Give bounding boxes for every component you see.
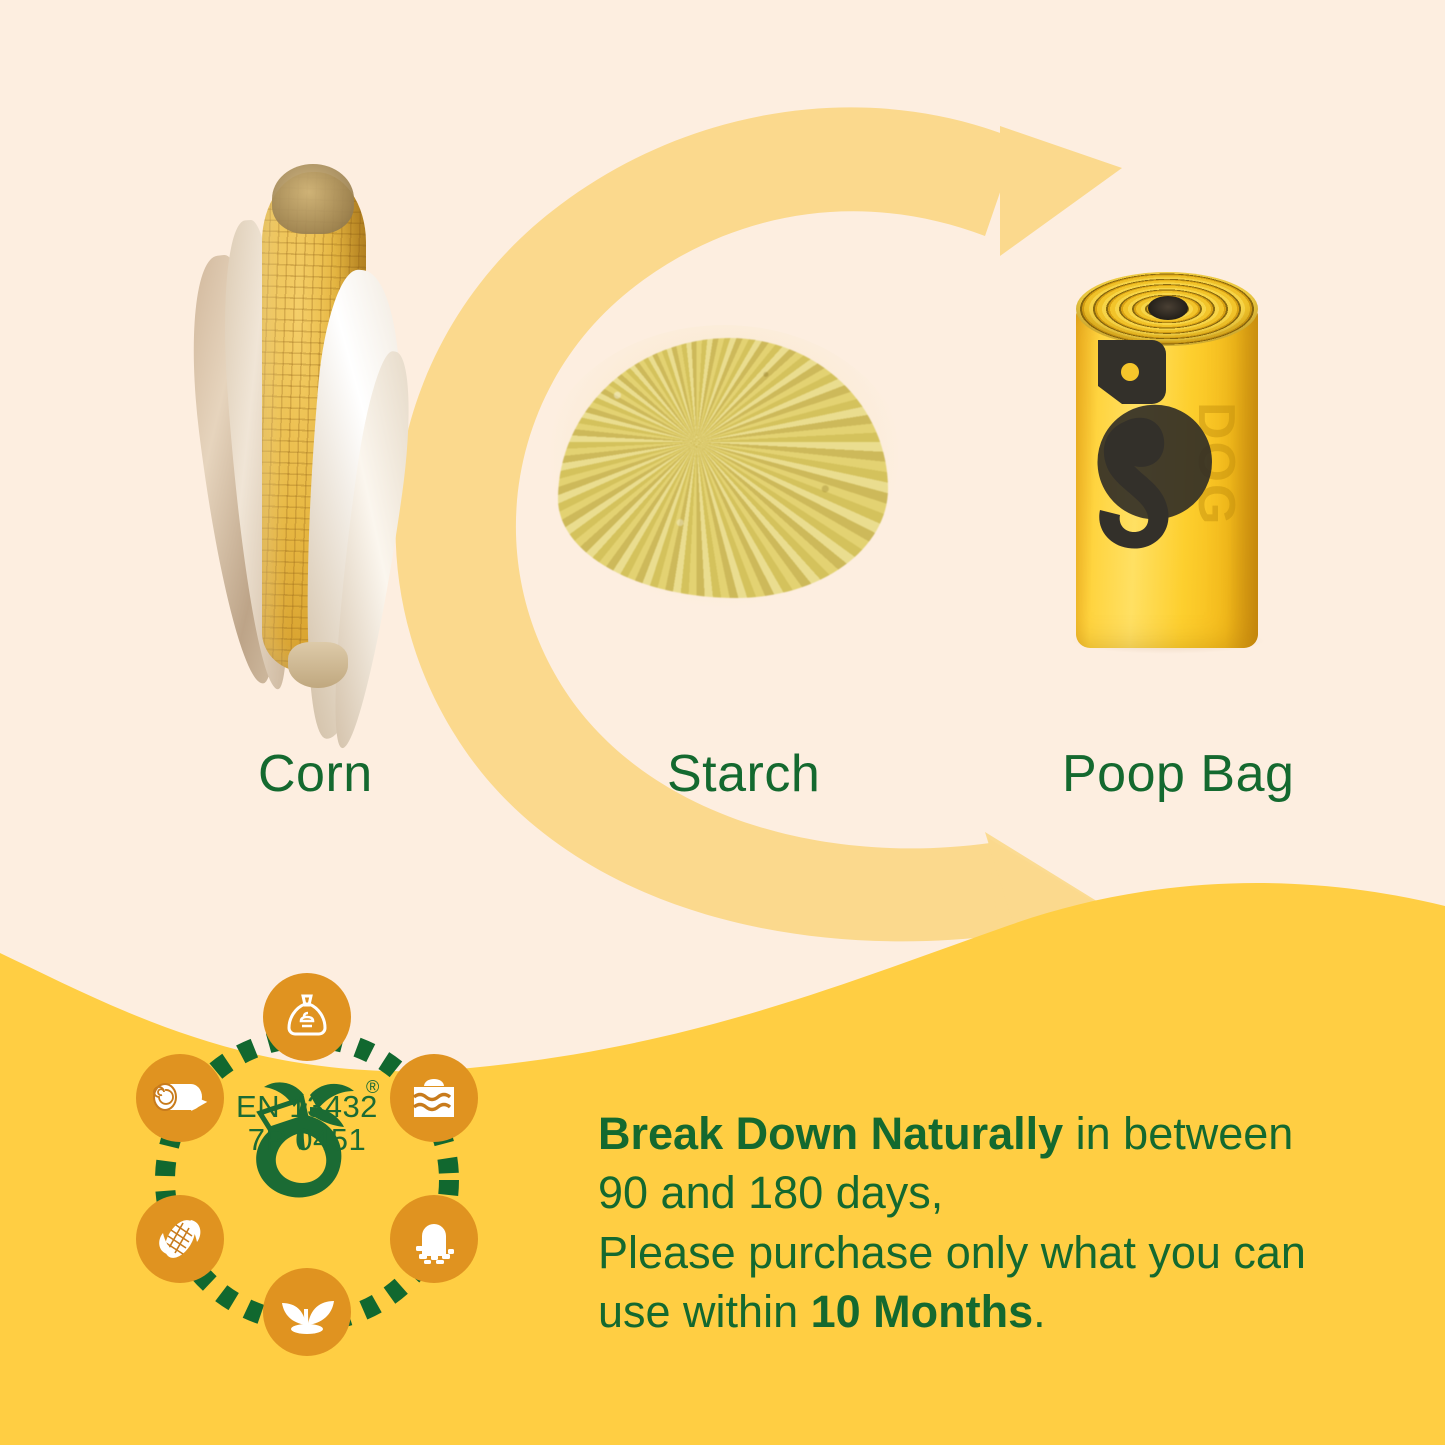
message-line-4-pre: use within: [598, 1286, 811, 1337]
message-line-2: 90 and 180 days,: [598, 1163, 1358, 1222]
poop-bag-icon: [263, 973, 351, 1061]
film-roll-icon: [136, 1054, 224, 1142]
infographic-canvas: DOG ● Corn Starch Poop Bag Break Down Na…: [0, 0, 1445, 1445]
message-line-1-rest: in between: [1063, 1108, 1293, 1159]
sprout-icon: [263, 1268, 351, 1356]
compostable-certification-badge: ® EN 13432 7P 0451: [112, 985, 502, 1375]
certification-registration-code: 7P 0451: [207, 1123, 407, 1156]
roll-core-hole: [1148, 296, 1188, 320]
corn-base: [288, 642, 348, 688]
message-line-4: use within 10 Months.: [598, 1282, 1358, 1341]
message-line-4-post: .: [1033, 1286, 1046, 1337]
compost-icon: [390, 1195, 478, 1283]
label-corn: Corn: [258, 744, 373, 804]
label-starch: Starch: [667, 744, 820, 804]
corn-cob-image: [196, 150, 411, 710]
soil-layers-icon: [390, 1054, 478, 1142]
label-poop-bag: Poop Bag: [1062, 744, 1294, 804]
corn-tip: [272, 164, 354, 234]
certification-standard-code: EN 13432: [207, 1090, 407, 1123]
breakdown-message: Break Down Naturally in between 90 and 1…: [598, 1104, 1358, 1342]
certification-codes: EN 13432 7P 0451: [207, 1090, 407, 1280]
message-strong-breakdown: Break Down Naturally: [598, 1108, 1063, 1159]
message-line-1: Break Down Naturally in between: [598, 1104, 1358, 1163]
message-line-3: Please purchase only what you can: [598, 1223, 1358, 1282]
roll-dog-graphic: [1084, 330, 1180, 560]
corn-cob-icon: [136, 1195, 224, 1283]
message-strong-months: 10 Months: [811, 1286, 1034, 1337]
